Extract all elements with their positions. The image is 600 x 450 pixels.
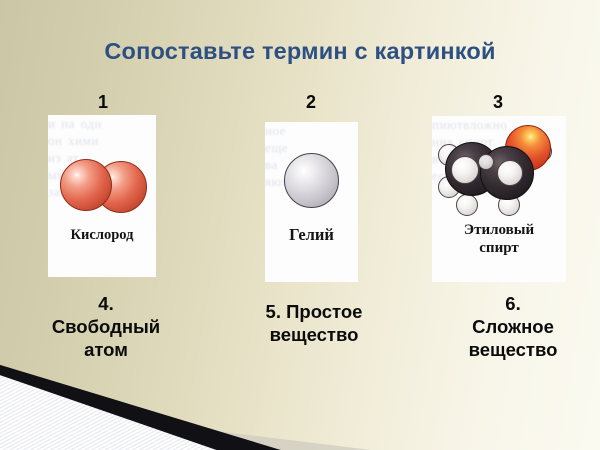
picture-number-3: 3 (478, 92, 518, 113)
answer-option-5[interactable]: 5. Простое вещество (232, 300, 396, 346)
picture-card-helium[interactable]: ное еще ва яются с Гелий (265, 122, 358, 282)
answer-option-4[interactable]: 4. Свободный атом (26, 292, 186, 361)
answer-option-6-line1: 6. (438, 292, 588, 315)
oxygen-atom-sphere (60, 159, 112, 211)
answer-option-5-line2: вещество (232, 323, 396, 346)
picture-card-ethanol[interactable]: пиютвложно ния спирт вод на ества ди- Эт… (432, 116, 566, 282)
answer-option-6-line3: вещество (438, 338, 588, 361)
answer-option-4-line2: Свободный (26, 315, 186, 338)
oxygen-molecule-illustration (48, 115, 156, 277)
picture-number-1: 1 (83, 92, 123, 113)
picture-caption-ethanol-line2: спирт (432, 240, 566, 257)
answer-option-4-line1: 4. (26, 292, 186, 315)
answer-option-4-line3: атом (26, 338, 186, 361)
hydrogen-atom-sphere (497, 160, 523, 186)
slide-canvas: Сопоставьте термин с картинкой 1 2 3 и н… (0, 0, 600, 450)
hydrogen-atom-sphere (451, 156, 479, 184)
answer-option-5-line1: 5. Простое (232, 300, 396, 323)
ethanol-molecule-illustration (432, 116, 566, 282)
answer-option-6[interactable]: 6. Сложное вещество (438, 292, 588, 361)
answer-option-6-line2: Сложное (438, 315, 588, 338)
page-title: Сопоставьте термин с картинкой (0, 38, 600, 65)
hydrogen-atom-sphere (478, 154, 494, 170)
picture-caption-ethanol-line1: Этиловый (432, 222, 566, 239)
helium-atom-sphere (284, 153, 339, 208)
picture-card-oxygen[interactable]: и на одн он хими из ат ыми зала Кислород (48, 115, 156, 277)
picture-caption-oxygen: Кислород (48, 227, 156, 244)
picture-number-2: 2 (291, 92, 331, 113)
hydrogen-atom-sphere (456, 194, 478, 216)
picture-caption-helium: Гелий (265, 225, 358, 245)
helium-atom-illustration (265, 122, 358, 282)
